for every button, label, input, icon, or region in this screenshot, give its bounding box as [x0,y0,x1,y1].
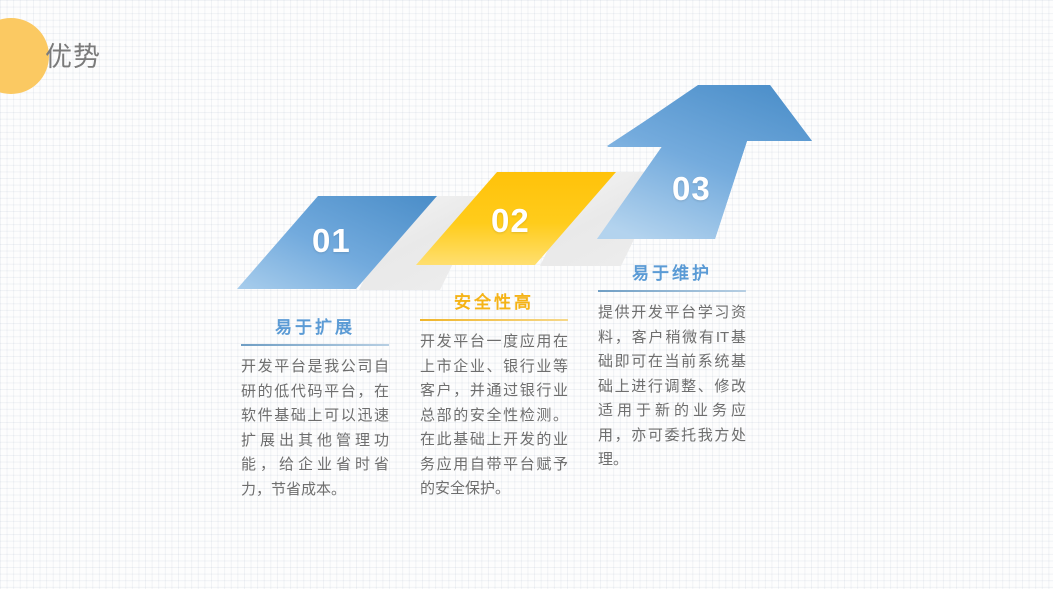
step-text-column-2: 安全性高 开发平台一度应用在上市企业、银行业等客户，并通过银行业总部的安全性检测… [420,288,568,502]
step-body-02: 开发平台一度应用在上市企业、银行业等客户，并通过银行业总部的安全性检测。在此基础… [420,330,568,502]
step-body-01: 开发平台是我公司自研的低代码平台，在软件基础上可以迅速扩展出其他管理功能，给企业… [241,355,389,502]
slide-canvas: 优势 [0,0,1053,589]
step-heading-rule-03 [598,290,746,292]
connector-1 [359,196,486,290]
step-text-column-3: 易于维护 提供开发平台学习资料，客户稍微有IT基础即可在当前系统基础上进行调整、… [598,259,746,473]
step-shape-03 [597,85,812,239]
step-heading-01: 易于扩展 [241,313,389,338]
step-heading-03: 易于维护 [598,259,746,284]
step-heading-02: 安全性高 [420,288,568,313]
step-number-03: 03 [672,170,711,208]
step-number-01: 01 [312,222,351,260]
step-body-03: 提供开发平台学习资料，客户稍微有IT基础即可在当前系统基础上进行调整、修改适用于… [598,301,746,473]
decorative-circle [0,18,49,94]
step-heading-rule-02 [420,319,568,321]
page-title: 优势 [45,40,101,74]
connector-2 [540,172,667,266]
step-heading-rule-01 [241,344,389,346]
step-number-02: 02 [491,202,530,240]
step-text-column-1: 易于扩展 开发平台是我公司自研的低代码平台，在软件基础上可以迅速扩展出其他管理功… [241,313,389,502]
